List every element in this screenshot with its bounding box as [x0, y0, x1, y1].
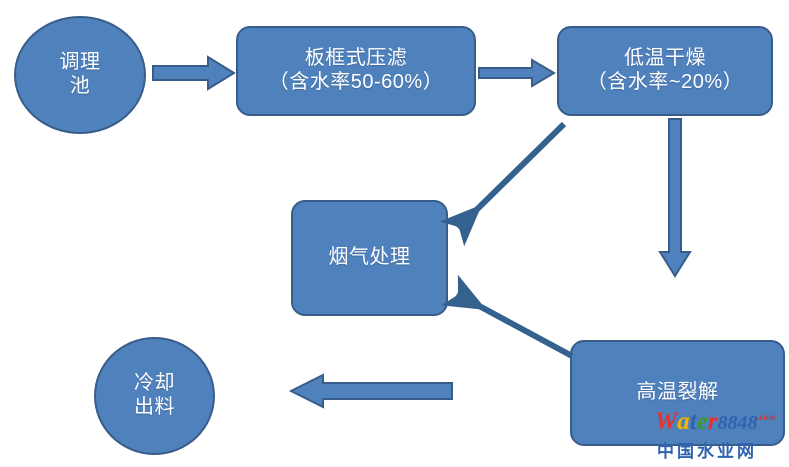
watermark-tld: .com: [758, 413, 776, 422]
arrow-liejie-to-yanqi: [448, 286, 578, 364]
watermark-letter: a: [677, 409, 690, 434]
arrow-liejie-to-lengque: [288, 373, 454, 409]
watermark-letter: 8: [728, 413, 738, 433]
watermark-letter: r: [708, 409, 718, 434]
node-label-line: 高温裂解: [637, 381, 719, 405]
node-label-line: 冷却: [134, 372, 175, 396]
watermark-letter: t: [690, 409, 697, 434]
node-bankuangshi-yalv[interactable]: 板框式压滤 （含水率50-60%）: [236, 26, 476, 116]
flowchart-canvas: 调理 池 板框式压滤 （含水率50-60%） 低温干燥 （含水率~20%） 烟气…: [0, 0, 789, 467]
watermark-chinese-text: 中国水业网: [657, 437, 757, 462]
node-label-line: 调理: [60, 51, 101, 75]
node-label-line: 板框式压滤: [305, 47, 408, 71]
node-yanqi-chuli[interactable]: 烟气处理: [291, 200, 448, 316]
node-lengque-chuliao[interactable]: 冷却 出料: [94, 337, 215, 455]
node-label-line: （含水率~20%）: [587, 71, 743, 95]
watermark-letter: W: [655, 409, 677, 434]
watermark-letter: 8: [748, 413, 758, 433]
node-label-line: 出料: [134, 396, 175, 420]
watermark-latin-text: Water8848.com: [655, 409, 775, 434]
watermark: Water8848.com 中国水业网: [655, 409, 785, 465]
arrow-tiaolichi-to-yalv: [152, 55, 236, 91]
arrow-ganzao-to-liejie: [655, 118, 695, 278]
arrow-yalv-to-ganzao: [478, 58, 556, 88]
node-label-line: 低温干燥: [624, 47, 706, 71]
arrow-ganzao-to-yanqi: [440, 118, 570, 240]
node-label-line: （含水率50-60%）: [269, 71, 443, 95]
node-label-line: 烟气处理: [329, 246, 411, 270]
node-tiaoli-chi[interactable]: 调理 池: [14, 16, 146, 134]
watermark-letter: e: [697, 409, 708, 434]
watermark-letter: 8: [718, 413, 728, 433]
node-label-line: 池: [70, 75, 91, 99]
node-diwen-ganzao[interactable]: 低温干燥 （含水率~20%）: [557, 26, 773, 116]
watermark-letter: 4: [738, 413, 748, 433]
